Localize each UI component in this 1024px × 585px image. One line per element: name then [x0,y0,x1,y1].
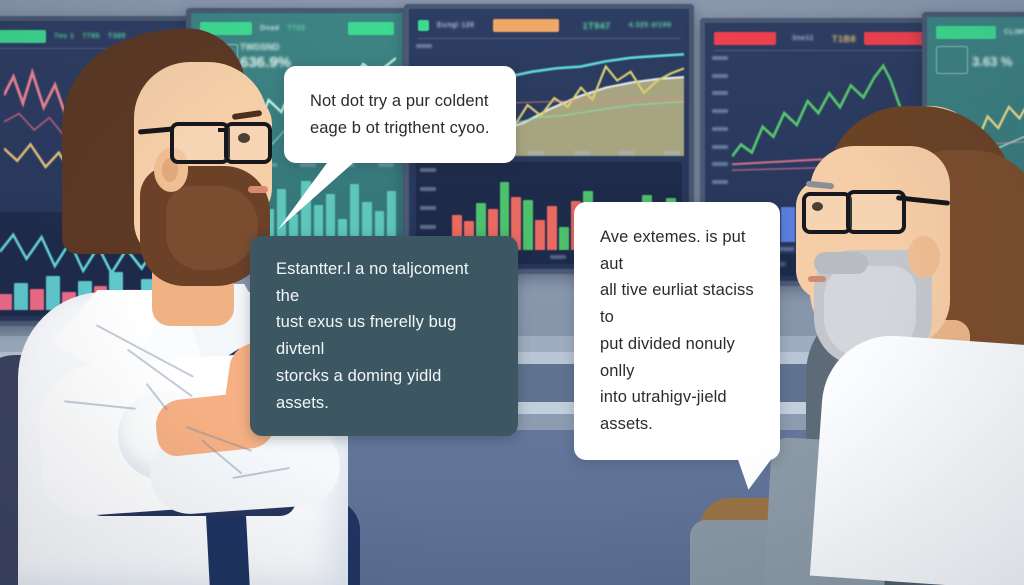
right-man-head [800,110,1024,370]
speech-bubble-top-line-2: eage b ot trigthent cyoo. [310,115,490,142]
left-man-head [62,36,262,288]
left-man-lip [248,186,268,193]
speech-bubble-right-line-2: all tive eurliat staciss to [600,277,754,330]
speech-bubble-top: Not dot try a pur coldent eage b ot trig… [284,66,516,163]
glasses-lens-front-icon [224,122,272,164]
speech-bubble-right-line-3: put divided nonuly onlly [600,331,754,384]
speech-bubble-right-line-1: Ave extemes. is put aut [600,224,754,277]
speech-bubble-right-line-4: into utrahigv-jield assets. [600,384,754,437]
right-man-moustache [814,252,868,274]
right-man-lip [808,276,826,282]
right-man-ear [908,236,940,278]
right-man-chair-white [810,331,1024,585]
speech-bubble-dark-line-3: storcks a doming yidld assets. [276,363,492,416]
speech-bubble-dark-line-1: Estantter.l a no taljcoment the [276,256,492,309]
left-man-beard-highlight [166,186,258,270]
speech-bubble-dark-line-2: tust exus us fnerelly bug divtenl [276,309,492,362]
glasses-lens-front-icon [802,192,852,234]
speech-bubble-right: Ave extemes. is put aut all tive eurliat… [574,202,780,460]
speech-bubble-top-line-1: Not dot try a pur coldent [310,88,490,115]
illustration-scene: 7ns 1 7785 T385 [0,0,1024,585]
speech-bubble-dark: Estantter.l a no taljcoment the tust exu… [250,236,518,436]
